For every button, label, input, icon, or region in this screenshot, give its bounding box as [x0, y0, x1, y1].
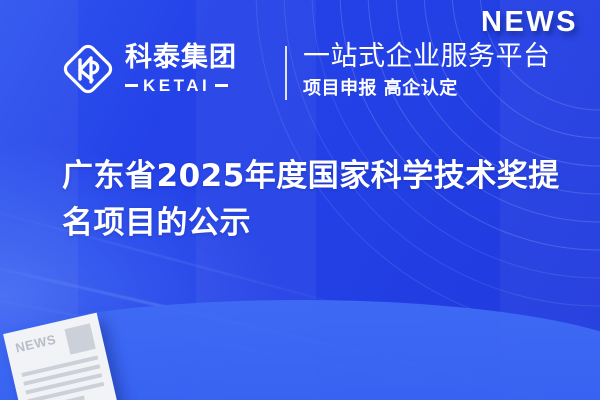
logo-dash-right: [215, 84, 228, 87]
ketai-diamond-logo-icon: [60, 41, 116, 97]
newspaper-thumbnail-icon: [65, 323, 96, 354]
brand-logo[interactable]: 科泰集团 KETAI: [60, 41, 237, 97]
logo-company-name-cn: 科泰集团: [125, 43, 237, 73]
header-divider: [285, 46, 287, 100]
news-badge: NEWS: [481, 6, 578, 39]
logo-company-name-en: KETAI: [143, 76, 210, 96]
slogan-main-text: 一站式企业服务平台: [303, 40, 551, 74]
newspaper-graphic: NEWS: [3, 313, 121, 400]
bg-streak-4: [120, 330, 600, 400]
banner-header: 科泰集团 KETAI 一站式企业服务平台 项目申报 高企认定 NEWS: [0, 0, 600, 125]
newspaper-title: NEWS: [14, 332, 58, 356]
news-banner: 科泰集团 KETAI 一站式企业服务平台 项目申报 高企认定 NEWS 广东省2…: [0, 0, 600, 400]
brand-slogan: 一站式企业服务平台 项目申报 高企认定: [303, 40, 551, 102]
logo-dash-left: [125, 84, 138, 87]
slogan-sub-text: 项目申报 高企认定: [303, 76, 551, 102]
page-title: 广东省2025年度国家科学技术奖提名项目的公示: [62, 153, 562, 247]
